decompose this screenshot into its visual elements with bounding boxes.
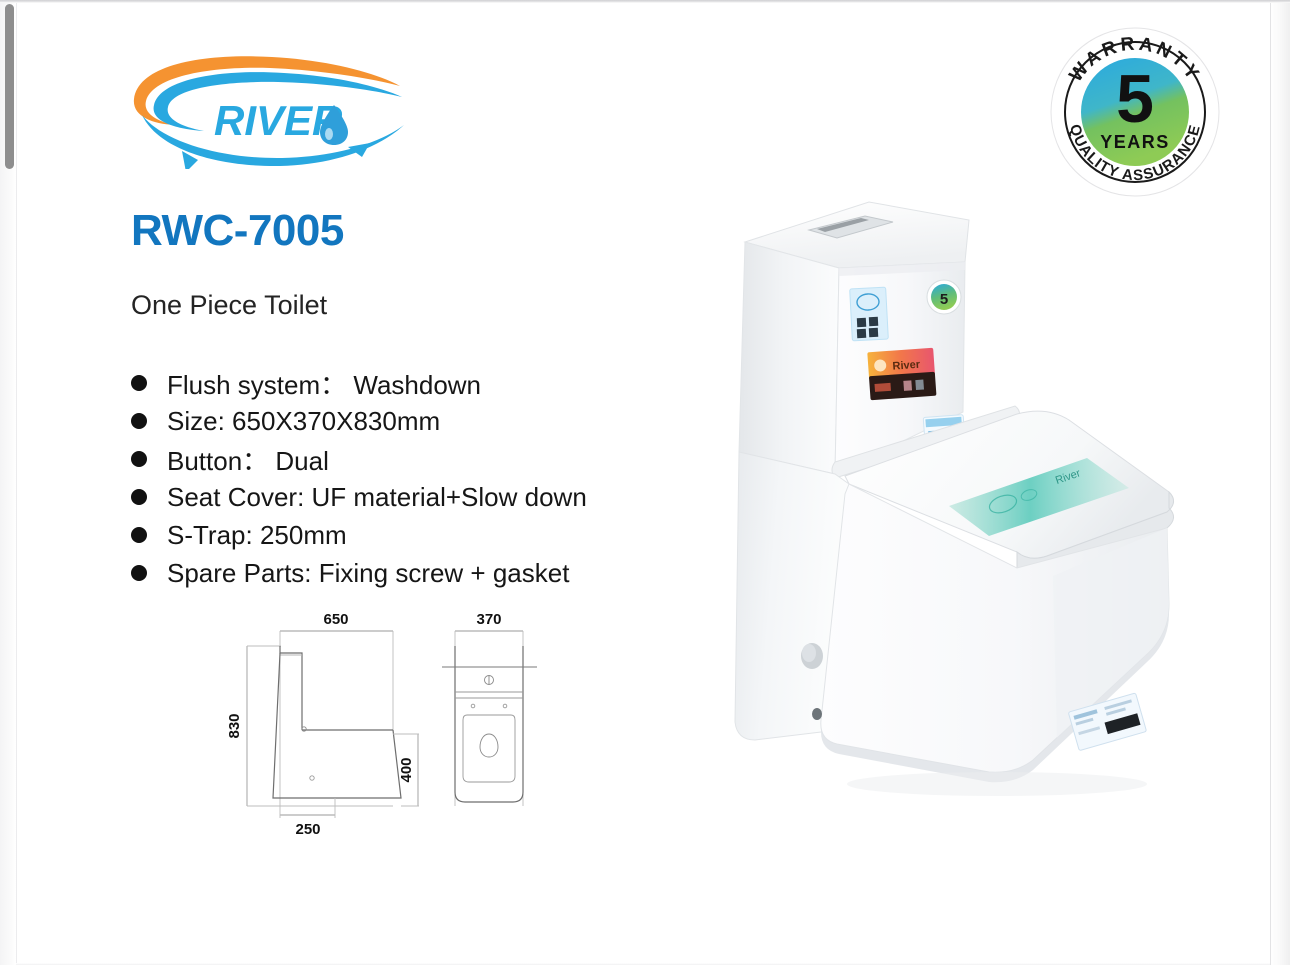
list-item: Size: 650X370X830mm <box>131 402 771 440</box>
dim-label-370: 370 <box>476 611 501 628</box>
tank-brand-label: River <box>867 348 936 400</box>
dim-label-650: 650 <box>323 611 348 628</box>
front-trap-opening <box>480 734 498 757</box>
warranty-badge: WARRANTY QUALITY ASSURANCE 5 YEARS <box>1049 26 1221 198</box>
list-item: Spare Parts: Fixing screw + gasket <box>131 554 771 592</box>
side-tank-front <box>273 653 295 798</box>
front-body-outline <box>455 646 523 802</box>
bowl-drain-hole <box>812 708 822 720</box>
product-subtitle: One Piece Toilet <box>131 290 327 321</box>
list-item: Seat Cover: UF material+Slow down <box>131 478 771 516</box>
bowl-bolt-cap-highlight <box>802 644 816 662</box>
spec-sheet: RIVER <box>17 4 1269 961</box>
list-item: Flush system： Washdown <box>131 364 771 402</box>
logo-droplet-highlight <box>325 128 333 140</box>
badge-year-number: 5 <box>1116 61 1154 137</box>
list-item: Button： Dual <box>131 440 771 478</box>
river-logo: RIVER <box>112 39 412 169</box>
spec-text: Button： Dual <box>167 441 329 478</box>
bullet-icon <box>131 489 147 505</box>
tank-warranty-sticker: 5 <box>927 280 961 314</box>
spec-text: Flush system： Washdown <box>167 365 481 402</box>
side-bolt-hole <box>310 776 314 780</box>
dim-label-250: 250 <box>295 821 320 838</box>
dim-label-400: 400 <box>398 757 415 782</box>
viewer-top-border <box>0 0 1290 3</box>
spec-text: Seat Cover: UF material+Slow down <box>167 482 587 513</box>
bullet-icon <box>131 451 147 467</box>
spec-text: Spare Parts: Fixing screw + gasket <box>167 558 569 589</box>
page-right-border <box>1270 3 1271 965</box>
spec-text: S-Trap: 250mm <box>167 520 347 551</box>
viewer-right-gutter <box>1270 3 1290 965</box>
bullet-icon <box>131 527 147 543</box>
front-bolt-hole-right <box>503 704 507 708</box>
tank-info-sticker <box>850 287 889 341</box>
tank-left-face <box>739 242 839 474</box>
spec-text: Size: 650X370X830mm <box>167 406 440 437</box>
tank-brand-label-text: River <box>892 359 921 373</box>
front-bowl-inner <box>463 715 515 782</box>
technical-drawing: 650 370 250 830 400 <box>215 610 565 838</box>
specification-list: Flush system： Washdown Size: 650X370X830… <box>131 364 771 592</box>
badge-years-label: YEARS <box>1100 132 1170 152</box>
bullet-icon <box>131 375 147 391</box>
product-spec-page: RIVER <box>0 0 1290 965</box>
dim-label-830: 830 <box>226 713 243 738</box>
bullet-icon <box>131 413 147 429</box>
side-tank-outline <box>280 646 302 730</box>
vertical-scrollbar[interactable] <box>5 4 14 169</box>
page-title: RWC-7005 <box>131 206 344 256</box>
list-item: S-Trap: 250mm <box>131 516 771 554</box>
one-piece-toilet-photo: 5 River <box>717 184 1217 844</box>
side-bowl-outline <box>295 730 401 798</box>
front-bolt-hole-left <box>471 704 475 708</box>
bullet-icon <box>131 565 147 581</box>
floor-shadow <box>847 772 1147 796</box>
tank-warranty-number: 5 <box>940 291 948 308</box>
